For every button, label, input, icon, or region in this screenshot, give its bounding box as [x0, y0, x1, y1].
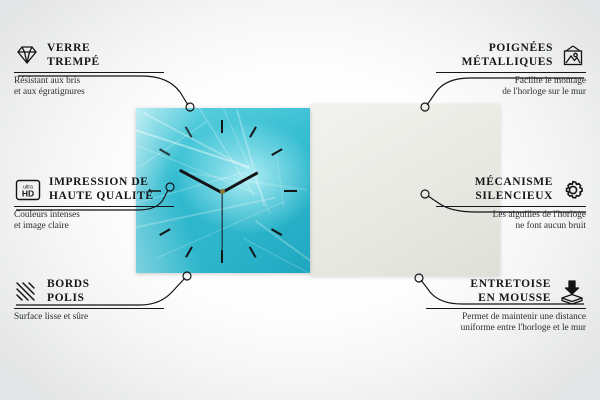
infographic-canvas: VERRE TREMPÉ Résistant aux bris et aux é…: [0, 0, 600, 400]
feature-sub-line1: Les aiguilles de l'horloge: [493, 210, 586, 220]
feature-title-line1: ENTRETOISE: [470, 278, 551, 290]
feature-title-line2: TREMPÉ: [47, 56, 100, 68]
clock-tick: [284, 190, 297, 192]
feature-title-line2: POLIS: [47, 292, 85, 304]
feature-verre-trempe: VERRE TREMPÉ Résistant aux bris et aux é…: [14, 42, 164, 99]
clock-tick: [221, 250, 223, 263]
feature-poignees-metalliques: POIGNÉES MÉTALLIQUES Facilite le montage…: [436, 42, 586, 99]
feature-sub-line2: ne font aucun bruit: [516, 221, 586, 231]
feature-title-line2: EN MOUSSE: [478, 292, 551, 304]
feature-sub-line1: Couleurs intenses: [14, 210, 80, 220]
feature-title-line2: HAUTE QUALITÉ: [49, 190, 154, 202]
ultra-hd-icon: ultra HD: [14, 178, 42, 202]
feature-title-line1: VERRE: [47, 42, 90, 54]
clock-tick: [185, 246, 192, 257]
feature-sub-line1: Permet de maintenir une distance: [462, 312, 586, 322]
feature-title-line2: MÉTALLIQUES: [462, 56, 553, 68]
clock-tick: [221, 120, 223, 133]
foam-spacer-icon: [558, 279, 586, 305]
svg-text:HD: HD: [22, 188, 34, 198]
feature-mecanisme-silencieux: MÉCANISME SILENCIEUX Les aiguilles de l'…: [436, 176, 586, 233]
feature-sub-line1: Facilite le montage: [515, 76, 586, 86]
divider: [426, 308, 586, 309]
feature-sub-line1: Surface lisse et sûre: [14, 312, 88, 322]
feature-sub-line2: de l'horloge sur le mur: [502, 87, 586, 97]
hanging-picture-icon: [560, 44, 586, 68]
feature-title-line1: MÉCANISME: [475, 176, 553, 188]
feature-impression-haute-qualite: ultra HD IMPRESSION DE HAUTE QUALITÉ Cou…: [14, 176, 174, 233]
feature-entretoise-en-mousse: ENTRETOISE EN MOUSSE Permet de maintenir…: [426, 278, 586, 335]
clock-minute-hand: [179, 169, 223, 194]
diamond-icon: [14, 44, 40, 68]
feature-sub-line2: uniforme entre l'horloge et le mur: [461, 323, 586, 333]
divider: [436, 72, 586, 73]
clock-second-hand: [221, 192, 222, 249]
clock-center-hub: [220, 189, 225, 194]
feature-title-line1: POIGNÉES: [489, 42, 553, 54]
feature-title-line2: SILENCIEUX: [475, 190, 553, 202]
feature-sub-line1: Résistant aux bris: [14, 76, 80, 86]
divider: [436, 206, 586, 207]
divider: [14, 308, 164, 309]
feature-title-line1: IMPRESSION DE: [49, 176, 149, 188]
divider: [14, 206, 174, 207]
divider: [14, 72, 164, 73]
feature-sub-line2: et image claire: [14, 221, 69, 231]
clock-tick: [249, 126, 256, 137]
feature-title-line1: BORDS: [47, 278, 90, 290]
gear-icon: [560, 178, 586, 202]
polished-edges-icon: [14, 280, 40, 304]
clock-tick: [249, 246, 256, 257]
feature-bords-polis: BORDS POLIS Surface lisse et sûre: [14, 278, 164, 323]
feature-sub-line2: et aux égratignures: [14, 87, 85, 97]
